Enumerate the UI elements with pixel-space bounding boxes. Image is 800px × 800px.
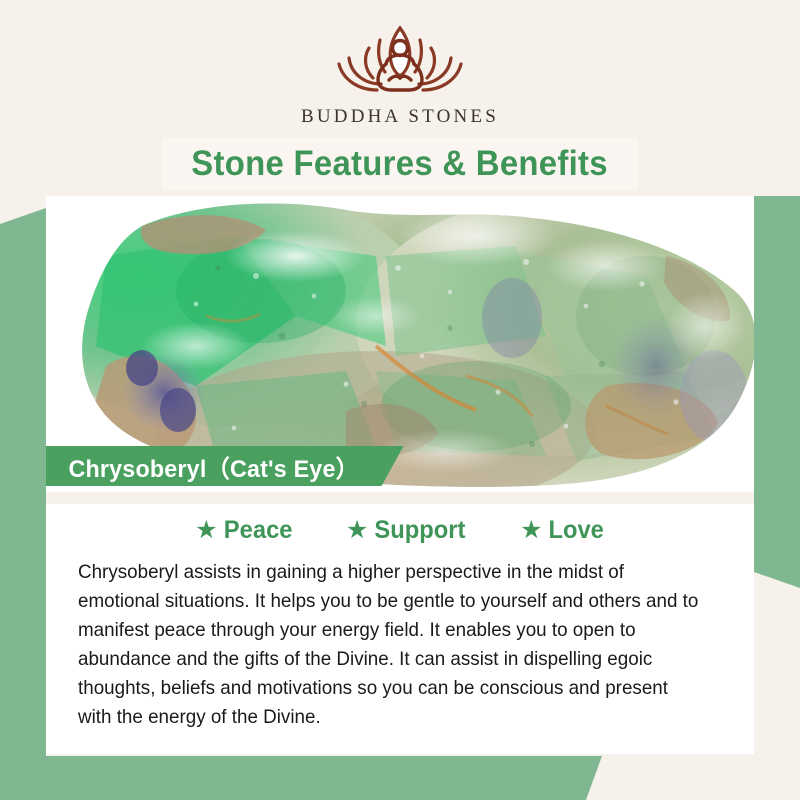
photo-divider [46,492,754,504]
star-icon: ★ [195,518,217,543]
stone-name: Chrysoberyl（Cat's Eye） [68,449,359,484]
stone-name-banner: Chrysoberyl（Cat's Eye） [46,446,404,486]
benefit-label: Peace [223,516,292,545]
brand-name: BUDDHA STONES [301,106,499,128]
benefit-item-peace: ★ Peace [195,516,294,545]
frame-band-left [0,208,46,774]
benefit-label: Love [548,516,603,545]
benefit-item-support: ★ Support [346,516,468,545]
title-panel: Stone Features & Benefits [162,138,638,190]
page-title: Stone Features & Benefits [192,144,609,184]
brand-logo: BUDDHA STONES [0,18,800,128]
stone-description: Chrysoberyl assists in gaining a higher … [78,558,703,732]
star-icon: ★ [346,518,368,543]
benefit-item-love: ★ Love [520,516,605,545]
star-icon: ★ [520,518,542,543]
frame-band-bottom [0,756,602,800]
page-header: BUDDHA STONES Stone Features & Benefits [0,0,800,196]
content-card: Chrysoberyl（Cat's Eye） ★ Peace ★ Support… [46,196,754,754]
benefits-row: ★ Peace ★ Support ★ Love [46,508,754,552]
infographic-page: BUDDHA STONES Stone Features & Benefits [0,0,800,800]
benefit-label: Support [375,516,466,545]
stone-photo: Chrysoberyl（Cat's Eye） [46,196,754,492]
lotus-meditating-figure-icon [325,18,475,102]
